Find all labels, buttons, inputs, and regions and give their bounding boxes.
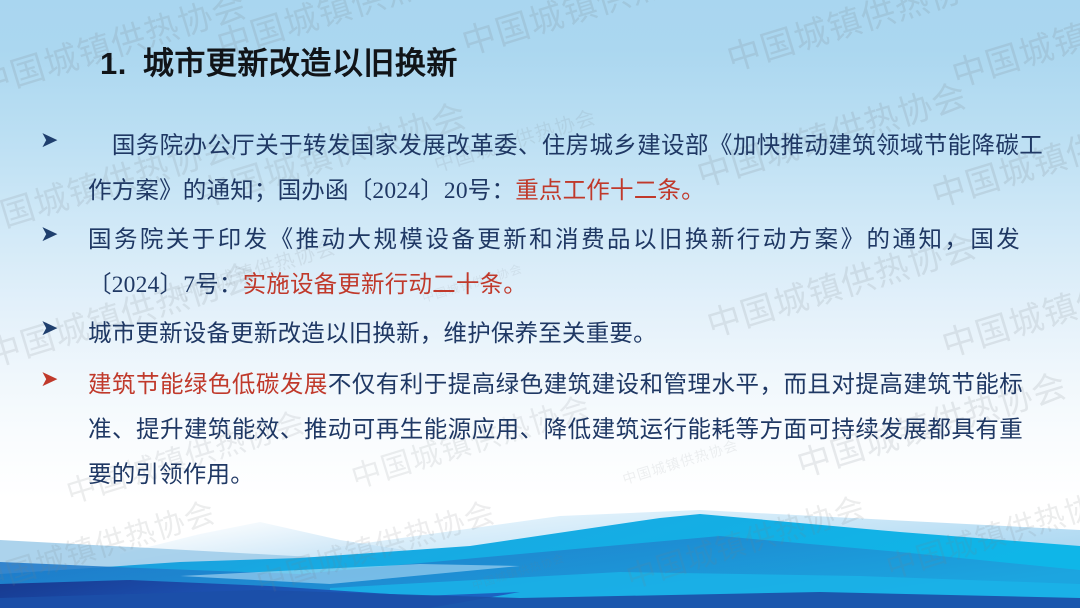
slide-content: 1.城市更新改造以旧换新 ➤ 国务院办公厅关于转发国家发展改革委、住房城乡建设部… (0, 0, 1080, 608)
list-item: ➤ 国务院关于印发《推动大规模设备更新和消费品以旧换新行动方案》的通知，国发〔2… (36, 218, 1046, 308)
title-text: 城市更新改造以旧换新 (143, 46, 458, 81)
list-item: ➤ 城市更新设备更新改造以旧换新，维护保养至关重要。 (36, 312, 1046, 357)
list-item-text: 国务院关于印发《推动大规模设备更新和消费品以旧换新行动方案》的通知，国发〔202… (88, 218, 1020, 308)
segment-highlight: 实施设备更新行动二十条。 (243, 272, 527, 298)
slide-canvas: 中国城镇供热协会中国城镇供热协会中国城镇供热协会中国城镇供热协会中国城镇供热协会… (0, 0, 1080, 608)
segment-highlight: 重点工作十二条。 (515, 178, 705, 204)
list-item-text: 国务院办公厅关于转发国家发展改革委、住房城乡建设部《加快推动建筑领域节能降碳工作… (88, 124, 1043, 214)
bullet-arrow-icon: ➤ (40, 365, 70, 395)
bullet-list: ➤ 国务院办公厅关于转发国家发展改革委、住房城乡建设部《加快推动建筑领域节能降碳… (36, 124, 1046, 500)
bullet-arrow-icon: ➤ (40, 220, 70, 250)
segment-plain: 城市更新设备更新改造以旧换新，维护保养至关重要。 (88, 321, 657, 347)
bullet-arrow-icon: ➤ (40, 314, 70, 344)
title-number: 1. (100, 46, 127, 81)
list-item-text: 城市更新设备更新改造以旧换新，维护保养至关重要。 (88, 312, 1046, 357)
list-item-text: 建筑节能绿色低碳发展不仅有利于提高绿色建筑建设和管理水平，而且对提高建筑节能标准… (88, 363, 1023, 498)
segment-highlight: 建筑节能绿色低碳发展 (88, 372, 328, 398)
bullet-arrow-icon: ➤ (40, 126, 70, 156)
segment-plain: 国务院关于印发《推动大规模设备更新和消费品以旧换新行动方案》的通知，国发〔202… (88, 227, 1020, 298)
page-title: 1.城市更新改造以旧换新 (100, 44, 458, 84)
list-item: ➤ 建筑节能绿色低碳发展不仅有利于提高绿色建筑建设和管理水平，而且对提高建筑节能… (36, 363, 1046, 498)
list-item: ➤ 国务院办公厅关于转发国家发展改革委、住房城乡建设部《加快推动建筑领域节能降碳… (36, 124, 1046, 214)
